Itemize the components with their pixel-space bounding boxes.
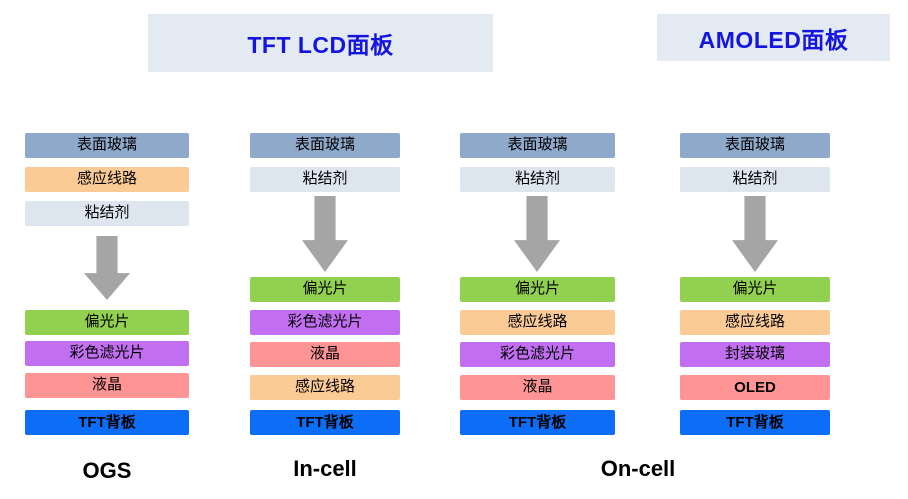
layer-label: 粘结剂 [84,206,129,221]
layer-box: 感应线路 [25,167,189,192]
layer-box: 液晶 [460,375,615,400]
down-arrow-icon [302,196,348,272]
layer-label: 偏光片 [84,315,129,330]
column-caption: On-cell [518,456,758,482]
layer-box: 感应线路 [250,375,400,400]
layer-box: 感应线路 [460,310,615,335]
layer-box: TFT背板 [25,410,189,435]
layer-box: 粘结剂 [250,167,400,192]
layer-label: 表面玻璃 [77,138,137,153]
layer-label: 彩色滤光片 [287,315,362,330]
layer-box: 封装玻璃 [680,342,830,367]
column-caption: OGS [0,458,227,484]
layer-box: TFT背板 [250,410,400,435]
layer-label: 液晶 [310,347,340,362]
layer-label: TFT背板 [78,415,136,430]
layer-label: 液晶 [92,378,122,393]
layer-label: OLED [734,380,776,395]
layer-box: 偏光片 [25,310,189,335]
layer-box: 表面玻璃 [460,133,615,158]
layer-label: TFT背板 [726,415,784,430]
layer-label: 感应线路 [507,315,567,330]
down-arrow-icon [514,196,560,272]
layer-box: 偏光片 [460,277,615,302]
layer-box: 感应线路 [680,310,830,335]
layer-label: 表面玻璃 [507,138,567,153]
layer-label: 感应线路 [295,380,355,395]
layer-label: 彩色滤光片 [500,347,575,362]
layer-box: 表面玻璃 [25,133,189,158]
layer-box: TFT背板 [460,410,615,435]
layer-box: TFT背板 [680,410,830,435]
layer-box: OLED [680,375,830,400]
layer-label: 感应线路 [77,172,137,187]
banner-title: TFT LCD面板 [247,26,393,60]
layer-label: 偏光片 [302,282,347,297]
layer-label: TFT背板 [509,415,567,430]
layer-label: 粘结剂 [515,172,560,187]
layer-label: 彩色滤光片 [69,346,144,361]
down-arrow-icon [732,196,778,272]
layer-box: 粘结剂 [680,167,830,192]
layer-box: 偏光片 [250,277,400,302]
layer-label: 偏光片 [515,282,560,297]
layer-box: 表面玻璃 [250,133,400,158]
layer-box: 粘结剂 [460,167,615,192]
layer-box: 彩色滤光片 [460,342,615,367]
layer-box: 彩色滤光片 [25,341,189,366]
layer-label: 表面玻璃 [725,138,785,153]
layer-box: 液晶 [250,342,400,367]
layer-label: 粘结剂 [302,172,347,187]
banner-title: AMOLED面板 [699,21,849,55]
layer-box: 粘结剂 [25,201,189,226]
layer-box: 偏光片 [680,277,830,302]
layer-label: 表面玻璃 [295,138,355,153]
layer-label: TFT背板 [296,415,354,430]
column-caption: In-cell [205,456,445,482]
panel-structure-diagram: TFT LCD面板AMOLED面板 表面玻璃感应线路粘结剂偏光片彩色滤光片液晶T… [0,0,908,499]
banner-amoled: AMOLED面板 [657,14,890,61]
layer-label: 液晶 [522,380,552,395]
layer-box: 液晶 [25,373,189,398]
layer-label: 偏光片 [732,282,777,297]
layer-box: 表面玻璃 [680,133,830,158]
layer-label: 感应线路 [725,315,785,330]
layer-box: 彩色滤光片 [250,310,400,335]
down-arrow-icon [84,236,130,300]
layer-label: 粘结剂 [732,172,777,187]
layer-label: 封装玻璃 [725,347,785,362]
banner-tft-lcd: TFT LCD面板 [148,14,493,72]
